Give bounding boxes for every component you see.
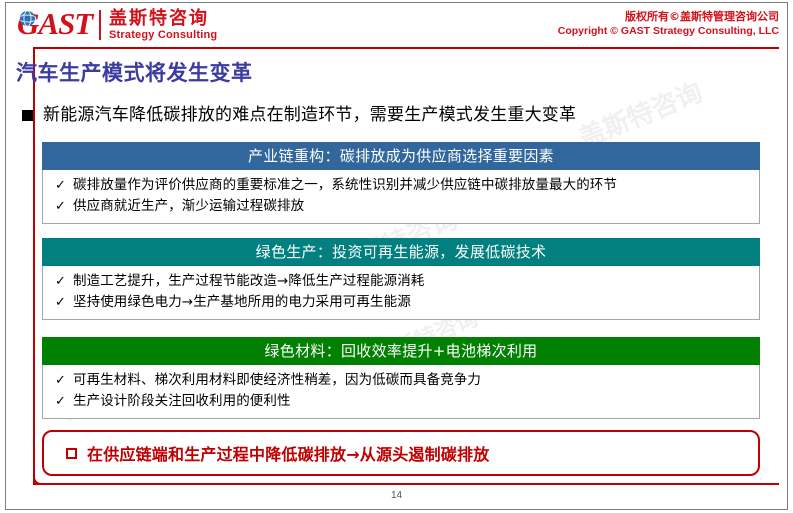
main-bullet-text: 新能源汽车降低碳排放的难点在制造环节，需要生产模式发生重大变革 [43, 104, 576, 126]
frame-bottom-line [33, 483, 779, 485]
conclusion-text: 在供应链端和生产过程中降低碳排放→从源头遏制碳排放 [87, 441, 489, 465]
list-item: ✓ 制造工艺提升，生产过程节能改造→降低生产过程能源消耗 [43, 271, 759, 292]
brand-name-en: Strategy Consulting [109, 28, 217, 42]
list-item: ✓ 可再生材料、梯次利用材料即使经济性稍差，因为低碳而具备竞争力 [43, 370, 759, 391]
brand-name-cn: 盖斯特咨询 [109, 9, 217, 28]
list-item: ✓ 供应商就近生产，渐少运输过程碳排放 [43, 196, 759, 217]
gast-logo-mark: GAST [17, 8, 95, 42]
check-icon: ✓ [55, 292, 73, 313]
list-item: ✓ 碳排放量作为评价供应商的重要标准之一，系统性识别并减少供应链中碳排放量最大的… [43, 175, 759, 196]
section-supply-chain: 产业链重构：碳排放成为供应商选择重要因素 ✓ 碳排放量作为评价供应商的重要标准之… [42, 142, 760, 224]
page-title: 汽车生产模式将发生变革 [16, 57, 253, 87]
section-header: 绿色材料：回收效率提升+电池梯次利用 [42, 337, 760, 365]
list-item-text: 供应商就近生产，渐少运输过程碳排放 [73, 196, 304, 217]
list-item: ✓ 生产设计阶段关注回收利用的便利性 [43, 391, 759, 412]
conclusion-box: 在供应链端和生产过程中降低碳排放→从源头遏制碳排放 [42, 430, 760, 476]
check-icon: ✓ [55, 196, 73, 217]
check-icon: ✓ [55, 391, 73, 412]
list-item-text: 可再生材料、梯次利用材料即使经济性稍差，因为低碳而具备竞争力 [73, 370, 481, 391]
list-item: ✓ 坚持使用绿色电力→生产基地所用的电力采用可再生能源 [43, 292, 759, 313]
page-number: 14 [0, 490, 793, 501]
section-body: ✓ 制造工艺提升，生产过程节能改造→降低生产过程能源消耗 ✓ 坚持使用绿色电力→… [42, 266, 760, 320]
main-bullet: 新能源汽车降低碳排放的难点在制造环节，需要生产模式发生重大变革 [22, 104, 782, 126]
copyright-cn: 版权所有©盖斯特管理咨询公司 [558, 9, 779, 24]
logo-divider [99, 10, 101, 40]
brand-name-block: 盖斯特咨询 Strategy Consulting [109, 9, 217, 42]
globe-icon [19, 10, 36, 27]
copyright-en: Copyright © GAST Strategy Consulting, LL… [558, 24, 779, 38]
header-rule [33, 47, 779, 49]
list-item-text: 生产设计阶段关注回收利用的便利性 [73, 391, 291, 412]
check-icon: ✓ [55, 370, 73, 391]
section-green-production: 绿色生产：投资可再生能源，发展低碳技术 ✓ 制造工艺提升，生产过程节能改造→降低… [42, 238, 760, 320]
hollow-square-bullet-icon [66, 448, 77, 459]
check-icon: ✓ [55, 175, 73, 196]
check-icon: ✓ [55, 271, 73, 292]
slide-header: GAST 盖斯特咨询 Strategy Consulting 版权所有©盖斯特管… [0, 0, 793, 48]
section-green-materials: 绿色材料：回收效率提升+电池梯次利用 ✓ 可再生材料、梯次利用材料即使经济性稍差… [42, 337, 760, 419]
section-header: 绿色生产：投资可再生能源，发展低碳技术 [42, 238, 760, 266]
section-header: 产业链重构：碳排放成为供应商选择重要因素 [42, 142, 760, 170]
section-body: ✓ 可再生材料、梯次利用材料即使经济性稍差，因为低碳而具备竞争力 ✓ 生产设计阶… [42, 365, 760, 419]
brand-logo: GAST 盖斯特咨询 Strategy Consulting [17, 7, 217, 43]
section-body: ✓ 碳排放量作为评价供应商的重要标准之一，系统性识别并减少供应链中碳排放量最大的… [42, 170, 760, 224]
list-item-text: 坚持使用绿色电力→生产基地所用的电力采用可再生能源 [73, 292, 411, 313]
slide: 盖斯特咨询 盖斯特咨询 盖斯特咨询 盖斯特咨询 盖斯特咨询 GAST 盖斯特咨询… [0, 0, 793, 513]
square-bullet-icon [22, 110, 33, 121]
list-item-text: 制造工艺提升，生产过程节能改造→降低生产过程能源消耗 [73, 271, 424, 292]
list-item-text: 碳排放量作为评价供应商的重要标准之一，系统性识别并减少供应链中碳排放量最大的环节 [73, 175, 617, 196]
copyright-block: 版权所有©盖斯特管理咨询公司 Copyright © GAST Strategy… [558, 9, 779, 38]
